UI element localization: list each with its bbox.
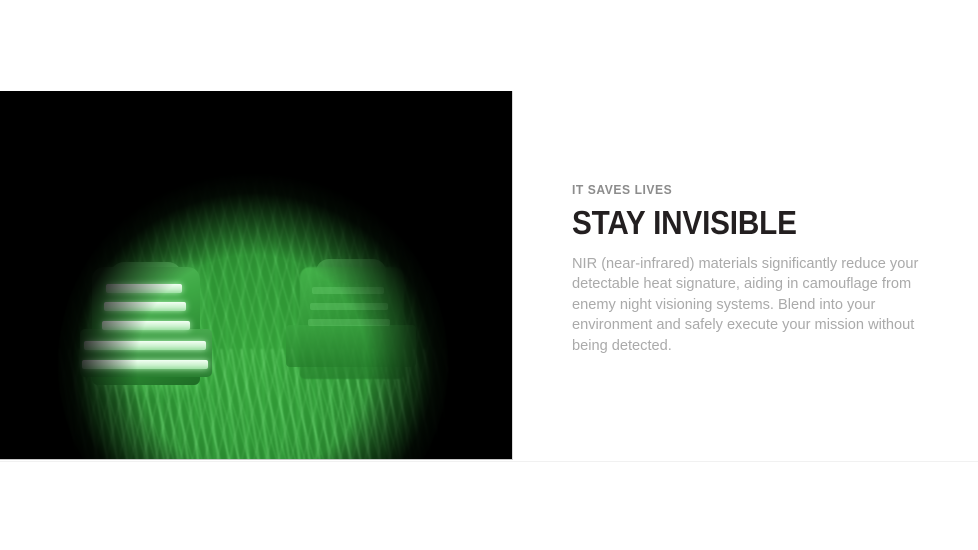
section-headline: STAY INVISIBLE (572, 206, 912, 241)
section-body-copy: NIR (near-infrared) materials significan… (572, 254, 950, 357)
section-eyebrow: IT SAVES LIVES (572, 182, 924, 197)
night-vision-scene (0, 91, 512, 459)
nir-feature-section: IT SAVES LIVES STAY INVISIBLE NIR (near-… (0, 0, 978, 550)
feature-text-column: IT SAVES LIVES STAY INVISIBLE NIR (near-… (572, 182, 950, 356)
section-divider (0, 461, 978, 462)
night-vision-media-panel (0, 91, 513, 460)
scope-vignette (0, 91, 512, 459)
